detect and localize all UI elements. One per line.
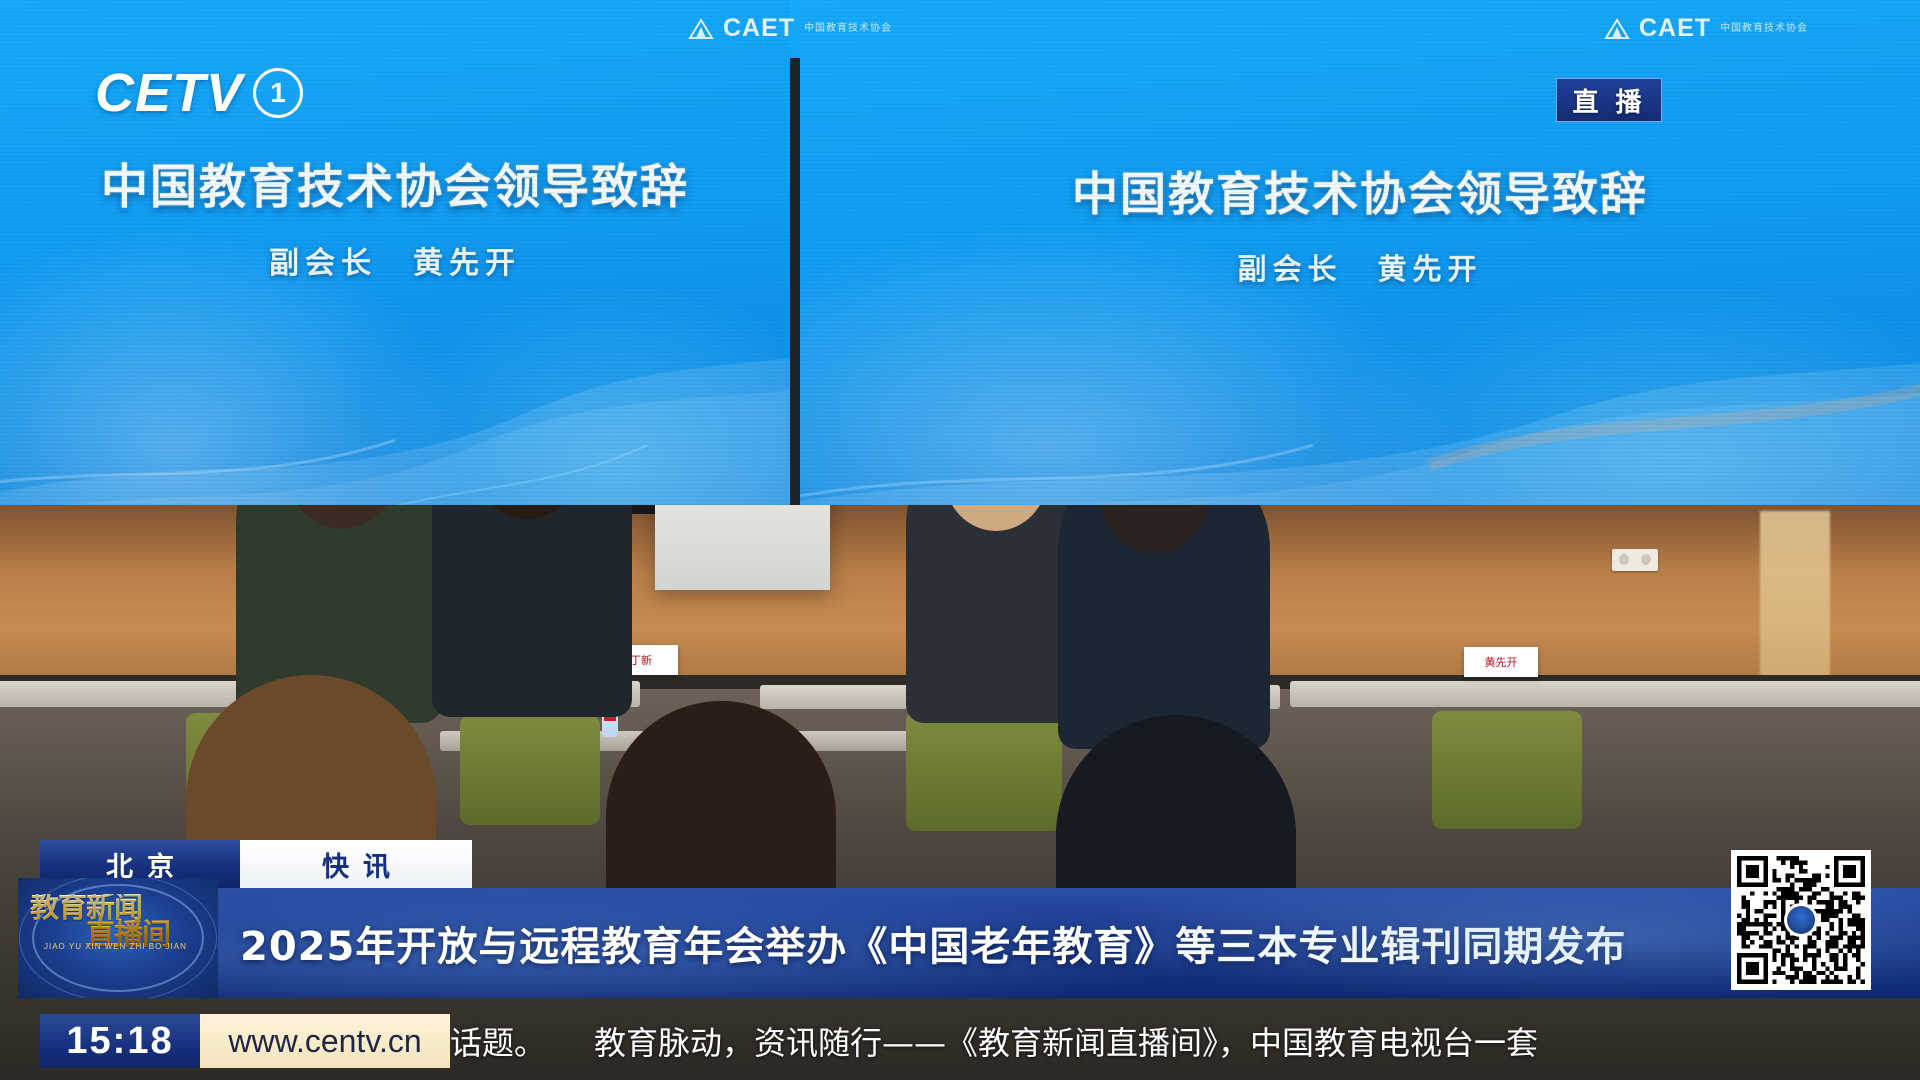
qr-center-emblem — [1784, 903, 1818, 937]
live-badge: 直 播 — [1556, 78, 1662, 122]
headline-text: 2025年开放与远程教育年会举办《中国老年教育》等三本专业辑刊同期发布 — [240, 914, 1626, 972]
website-url-text: www.centv.cn — [228, 1023, 421, 1060]
live-badge-label: 直 播 — [1572, 82, 1645, 119]
led-screen-right: 中国教育技术协会领导致辞 副会长 黄先开 — [800, 0, 1920, 505]
channel-wordmark: CETV — [95, 62, 243, 124]
qr-code[interactable] — [1731, 850, 1871, 990]
program-logo-pinyin: JIAO YU XIN WEN ZHI BO JIAN — [44, 942, 187, 951]
caet-wordmark-left: CAET — [723, 14, 795, 43]
clock: 15:18 — [40, 1014, 200, 1068]
name-placard-right: 黄先开 — [1464, 647, 1538, 677]
screen-swoosh-graphic-right — [800, 315, 1920, 505]
table-right — [1290, 681, 1920, 707]
caet-logo-right: CAET 中国教育技术协会 — [1604, 14, 1812, 43]
caet-chinese-left: 中国教育技术协会 — [804, 23, 896, 35]
program-logo-text: 教育新闻 直播间 — [30, 894, 206, 947]
caet-logo-left: CAET 中国教育技术协会 — [688, 14, 896, 43]
wall-outlet — [1612, 549, 1658, 571]
news-type-tag: 快讯 — [240, 840, 472, 888]
channel-logo-bug: CETV 1 — [95, 62, 303, 124]
website-url: www.centv.cn — [200, 1014, 450, 1068]
lower-third: 北京 快讯 2025年开放与远程教育年会举办《中国老年教育》等三本专业辑刊同期发… — [0, 840, 1920, 1080]
headline-bar: 2025年开放与远程教育年会举办《中国老年教育》等三本专业辑刊同期发布 — [200, 888, 1920, 998]
caet-triangle-mark-icon — [688, 18, 714, 40]
clock-time: 15:18 — [66, 1020, 173, 1063]
screen-swoosh-graphic — [0, 315, 790, 505]
chair-4 — [1432, 711, 1582, 829]
chair-2 — [460, 715, 600, 825]
right-screen-title: 中国教育技术协会领导致辞 — [800, 158, 1920, 224]
news-crawl: 话题。 教育脉动，资讯随行——《教育新闻直播间》，中国教育电视台一套 — [450, 1014, 1920, 1068]
caet-chinese-right: 中国教育技术协会 — [1720, 23, 1812, 35]
lower-third-bottom-row: 15:18 www.centv.cn 话题。 教育脉动，资讯随行——《教育新闻直… — [0, 998, 1920, 1080]
broadcast-frame: 中国教育技术协会领导致辞 副会长 黄先开 中国教育技术协会领导致辞 副会长 黄先… — [0, 0, 1920, 1080]
news-crawl-text: 话题。 教育脉动，资讯随行——《教育新闻直播间》，中国教育电视台一套 — [450, 1018, 1538, 1064]
news-type-label: 快讯 — [308, 845, 404, 884]
audience-2 — [432, 505, 632, 717]
podium: 中国教育技术协会 开放与远程教育专业委员会 — [655, 505, 830, 590]
caet-triangle-mark-icon-right — [1604, 18, 1630, 40]
program-logo: 教育新闻 直播间 JIAO YU XIN WEN ZHI BO JIAN — [18, 878, 218, 998]
chair-3 — [906, 711, 1062, 831]
left-screen-subtitle: 副会长 黄先开 — [0, 238, 790, 282]
right-screen-subtitle: 副会长 黄先开 — [800, 246, 1920, 288]
door-light — [1760, 511, 1830, 679]
channel-number: 1 — [253, 68, 303, 118]
left-screen-title: 中国教育技术协会领导致辞 — [0, 148, 790, 217]
caet-wordmark-right: CAET — [1639, 14, 1711, 43]
